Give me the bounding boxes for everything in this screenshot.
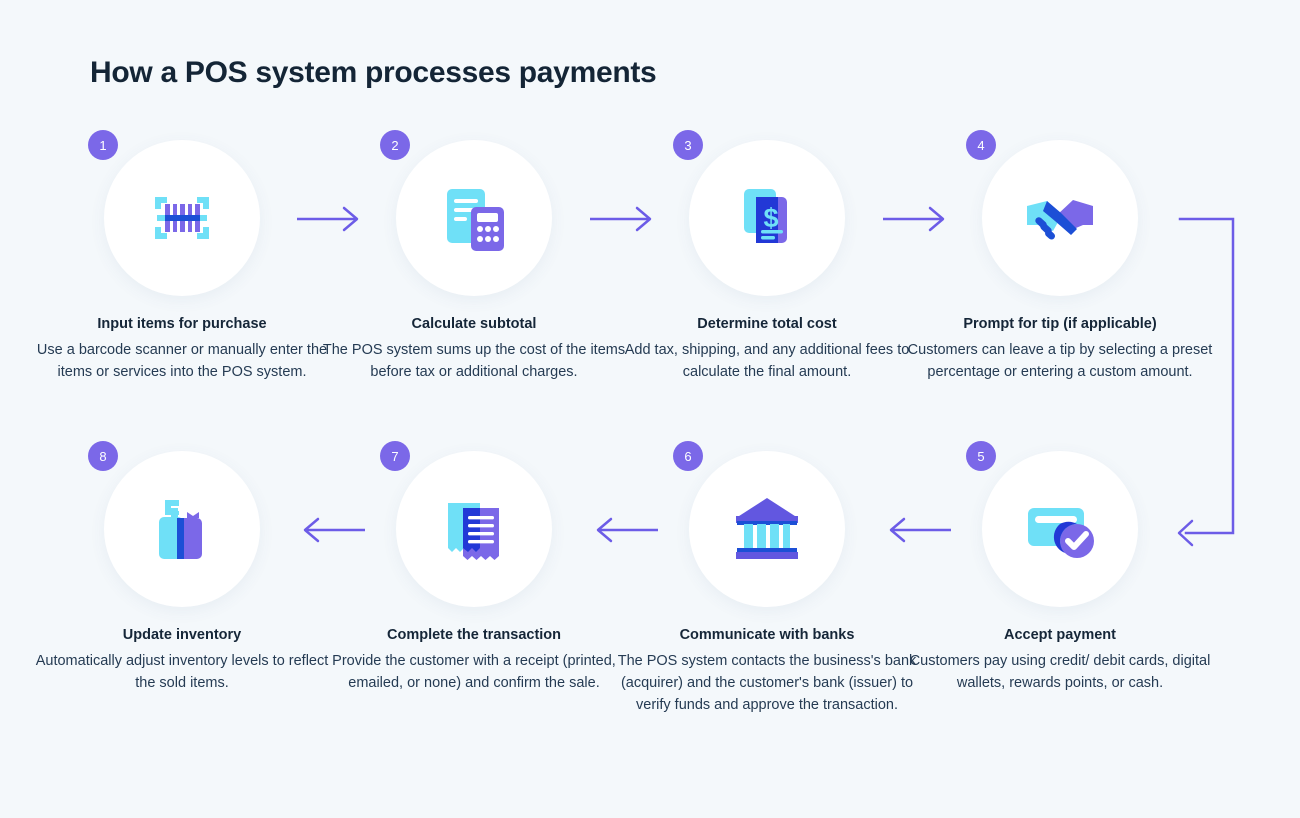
arrow-step2-to-step3	[588, 203, 660, 235]
step-card-4: 4 Prompt for tip (if applicable) Custome…	[905, 140, 1215, 383]
receipt-icon	[431, 486, 517, 572]
step-2-badge: 2	[380, 130, 410, 160]
step-7-description: Provide the customer with a receipt (pri…	[319, 650, 629, 694]
barcode-scanner-icon	[139, 175, 225, 261]
handshake-icon	[1017, 175, 1103, 261]
step-7-circle	[396, 451, 552, 607]
step-5-circle	[982, 451, 1138, 607]
step-6-title: Communicate with banks	[612, 627, 922, 643]
step-7-title: Complete the transaction	[319, 627, 629, 643]
step-3-title: Determine total cost	[612, 316, 922, 332]
credit-card-check-icon	[1017, 486, 1103, 572]
step-8-circle-wrap: 8	[104, 451, 260, 607]
step-2-title: Calculate subtotal	[319, 316, 629, 332]
svg-text:$: $	[763, 203, 778, 233]
step-4-circle	[982, 140, 1138, 296]
infographic-canvas: How a POS system processes payments	[0, 0, 1300, 818]
step-8-circle	[104, 451, 260, 607]
step-1-badge: 1	[88, 130, 118, 160]
step-1-title: Input items for purchase	[27, 316, 337, 332]
step-1-circle	[104, 140, 260, 296]
arrow-step6-to-step7	[588, 514, 660, 546]
step-6-description: The POS system contacts the business's b…	[612, 650, 922, 716]
step-card-6: 6 Communicate with banks The POS system …	[612, 451, 922, 716]
page-title: How a POS system processes payments	[90, 56, 656, 90]
step-4-description: Customers can leave a tip by selecting a…	[905, 339, 1215, 383]
step-6-circle	[689, 451, 845, 607]
step-6-circle-wrap: 6	[689, 451, 845, 607]
step-card-3: $ 3 Determine total cost Add tax, shippi…	[612, 140, 922, 383]
step-card-7: 7 Complete the transaction Provide the c…	[319, 451, 629, 694]
step-2-description: The POS system sums up the cost of the i…	[319, 339, 629, 383]
step-5-badge: 5	[966, 441, 996, 471]
step-3-description: Add tax, shipping, and any additional fe…	[612, 339, 922, 383]
arrow-step4-to-step5-wrap	[1172, 206, 1252, 551]
step-7-badge: 7	[380, 441, 410, 471]
arrow-step3-to-step4	[881, 203, 953, 235]
step-7-circle-wrap: 7	[396, 451, 552, 607]
step-8-badge: 8	[88, 441, 118, 471]
step-card-2: 2 Calculate subtotal The POS system sums…	[319, 140, 629, 383]
step-2-circle-wrap: 2	[396, 140, 552, 296]
bank-icon	[724, 486, 810, 572]
step-2-circle	[396, 140, 552, 296]
step-card-8: 8 Update inventory Automatically adjust …	[27, 451, 337, 694]
step-5-circle-wrap: 5	[982, 451, 1138, 607]
step-card-5: 5 Accept payment Customers pay using cre…	[905, 451, 1215, 694]
arrow-step5-to-step6	[881, 514, 953, 546]
step-4-badge: 4	[966, 130, 996, 160]
step-1-description: Use a barcode scanner or manually enter …	[27, 339, 337, 383]
step-3-circle-wrap: $ 3	[689, 140, 845, 296]
step-1-circle-wrap: 1	[104, 140, 260, 296]
step-5-description: Customers pay using credit/ debit cards,…	[905, 650, 1215, 694]
step-3-circle: $	[689, 140, 845, 296]
step-8-description: Automatically adjust inventory levels to…	[27, 650, 337, 694]
step-card-1: 1 Input items for purchase Use a barcode…	[27, 140, 337, 383]
step-5-title: Accept payment	[905, 627, 1215, 643]
arrow-step7-to-step8	[295, 514, 367, 546]
calculator-document-icon	[431, 175, 517, 261]
inventory-bottles-icon	[139, 486, 225, 572]
step-6-badge: 6	[673, 441, 703, 471]
step-4-title: Prompt for tip (if applicable)	[905, 316, 1215, 332]
step-4-circle-wrap: 4	[982, 140, 1138, 296]
step-8-title: Update inventory	[27, 627, 337, 643]
step-3-badge: 3	[673, 130, 703, 160]
invoice-dollar-icon: $	[724, 175, 810, 261]
arrow-step1-to-step2	[295, 203, 367, 235]
